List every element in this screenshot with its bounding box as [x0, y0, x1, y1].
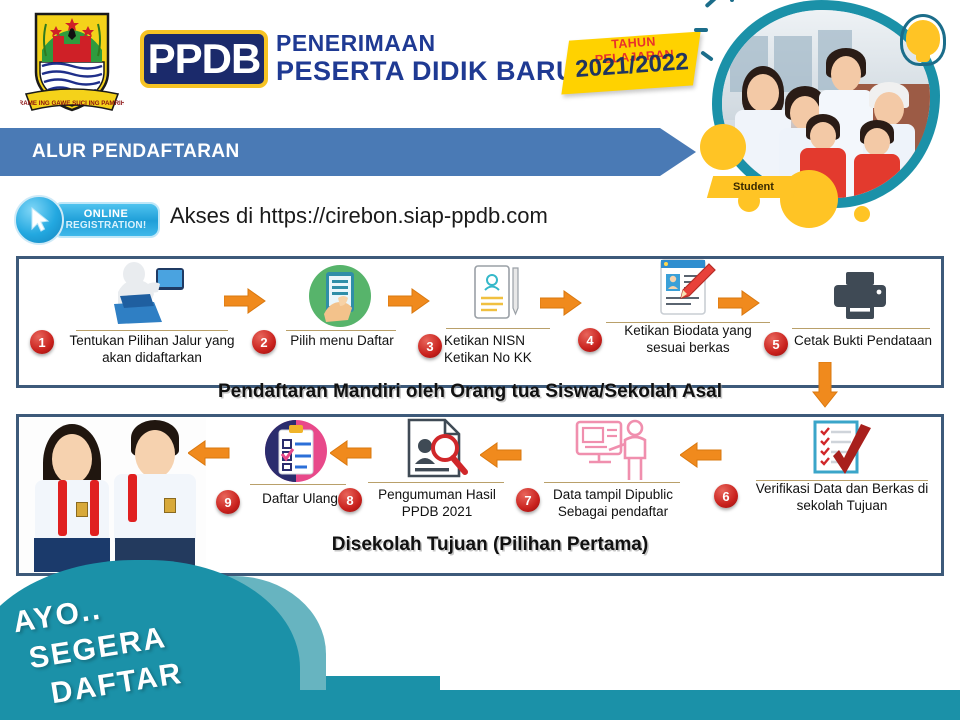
flow-arrow-left-icon: [480, 442, 522, 468]
step-number-badge: 3: [418, 334, 442, 358]
ppdb-logo-text: PPDB: [148, 38, 261, 80]
online-registration-pill: ONLINE REGISTRATION!: [52, 202, 160, 238]
person-at-laptop-icon: [104, 262, 196, 333]
form-pencil-icon: [653, 258, 719, 327]
step-label: Verifikasi Data dan Berkas di sekolah Tu…: [744, 480, 940, 514]
flow-arrow-right-icon: [224, 288, 266, 314]
clipboard-checkbox-icon: [265, 420, 327, 487]
presenter-monitor-icon: [573, 418, 651, 489]
academic-year-badge: TAHUN PELAJARAN 2021/2022: [566, 36, 696, 90]
online-badge-line1: ONLINE: [84, 209, 129, 220]
step-number-badge: 2: [252, 330, 276, 354]
step-number-badge: 7: [516, 488, 540, 512]
access-url-text: Akses di https://cirebon.siap-ppdb.com: [170, 203, 548, 229]
step-label: Data tampil Dipublic Sebagai pendaftar: [538, 486, 688, 520]
flow-step[interactable]: 9 Daftar Ulang: [236, 420, 356, 540]
id-card-pen-icon: [469, 264, 525, 331]
crest-motto: RAME ING GAWE SUCI ING PAMRIH: [20, 100, 124, 107]
flow-step[interactable]: 3 Ketikan NISN Ketikan No KK: [432, 262, 562, 382]
row2-students-photo: [20, 418, 206, 572]
row2-caption: Disekolah Tujuan (Pilihan Pertama): [260, 534, 720, 556]
flow-step[interactable]: 6 Verifikasi Data dan Berkas di sekolah …: [736, 414, 942, 542]
printer-icon: [829, 270, 891, 329]
step-number-badge: 1: [30, 330, 54, 354]
step-label: Ketikan NISN Ketikan No KK: [444, 332, 568, 366]
flow-arrow-left-icon: [188, 440, 230, 466]
flow-arrow-left-icon: [680, 442, 722, 468]
flow-arrow-right-icon: [388, 288, 430, 314]
section-title-bar: ALUR PENDAFTARAN: [0, 128, 660, 176]
student-label-tag: Student: [707, 176, 799, 198]
student-figure: [32, 424, 112, 572]
flow-arrow-right-icon: [718, 290, 760, 316]
section-title-text: ALUR PENDAFTARAN: [32, 141, 240, 163]
flow-arrow-right-icon: [540, 290, 582, 316]
checklist-check-icon: [801, 418, 877, 487]
step-label: Tentukan Pilihan Jalur yang akan didafta…: [60, 332, 244, 366]
step-label: Cetak Bukti Pendataan: [788, 332, 938, 349]
student-figure: [112, 420, 198, 572]
decorative-dot: [700, 124, 746, 170]
row1-caption: Pendaftaran Mandiri oleh Orang tua Siswa…: [150, 381, 790, 403]
flow-step[interactable]: 1 Tentukan Pilihan Jalur yang akan didaf…: [50, 262, 250, 382]
step-number-badge: 6: [714, 484, 738, 508]
step-number-badge: 9: [216, 490, 240, 514]
flow-arrow-down-icon: [812, 362, 838, 408]
online-badge-line2: REGISTRATION!: [66, 220, 147, 231]
title-bar-arrow: [660, 128, 696, 176]
ppdb-subtitle: PENERIMAAN PESERTA DIDIK BARU: [276, 30, 576, 86]
tablet-hand-icon: [308, 264, 372, 333]
flow-step[interactable]: 4 Ketikan Biodata yang sesuai berkas: [596, 258, 776, 382]
students-photo: Student: [706, 0, 960, 224]
cirebon-city-emblem-icon: RAME ING GAWE SUCI ING PAMRIH: [20, 6, 124, 118]
step-label: Pilih menu Daftar: [276, 332, 408, 349]
step-number-badge: 5: [764, 332, 788, 356]
decorative-dot: [854, 206, 870, 222]
flow-step[interactable]: 5 Cetak Bukti Pendataan: [780, 262, 940, 382]
step-number-badge: 8: [338, 488, 362, 512]
ppdb-logo: PPDB: [140, 30, 268, 88]
step-number-badge: 4: [578, 328, 602, 352]
student-figure: [854, 120, 900, 198]
cursor-pointer-icon: [30, 207, 50, 233]
lightbulb-icon: [892, 10, 952, 72]
ppdb-subtitle-line1: PENERIMAAN: [276, 30, 576, 56]
ppdb-subtitle-line2: PESERTA DIDIK BARU: [276, 56, 576, 86]
online-registration-badge[interactable]: ONLINE REGISTRATION!: [14, 195, 162, 245]
flow-step[interactable]: 8 Pengumuman Hasil PPDB 2021: [356, 418, 516, 542]
flow-step[interactable]: 2 Pilih menu Daftar: [270, 262, 410, 382]
student-label-text: Student: [733, 181, 774, 193]
infographic-page: RAME ING GAWE SUCI ING PAMRIH PPDB PENER…: [0, 0, 960, 720]
flow-step[interactable]: 7 Data tampil Dipublic Sebagai pendaftar: [534, 418, 690, 542]
document-magnifier-icon: [403, 418, 469, 487]
step-label: Pengumuman Hasil PPDB 2021: [362, 486, 512, 520]
header: RAME ING GAWE SUCI ING PAMRIH PPDB PENER…: [0, 0, 960, 128]
access-row: ONLINE REGISTRATION! Akses di https://ci…: [0, 193, 700, 253]
step-label: Ketikan Biodata yang sesuai berkas: [604, 322, 772, 356]
